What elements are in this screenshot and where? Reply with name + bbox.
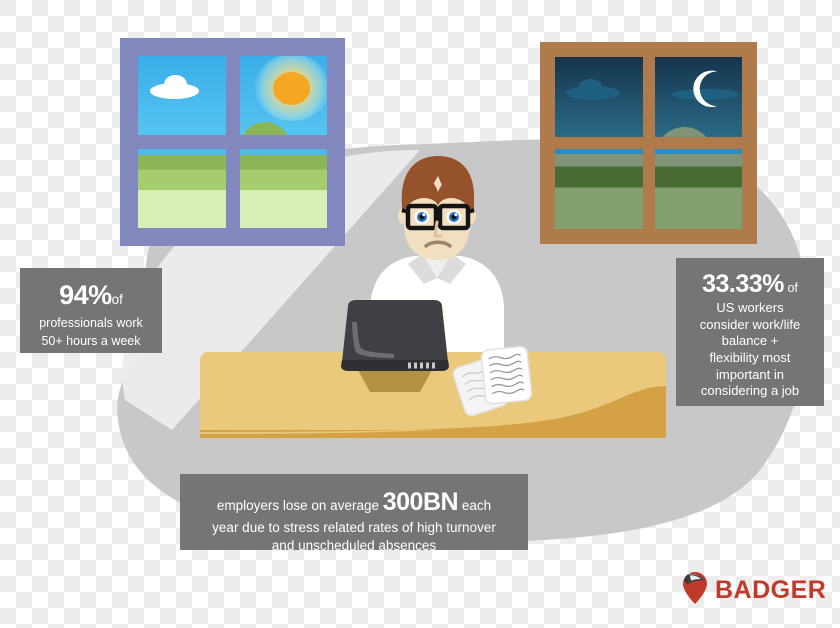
stat-bottom-value: 300BN xyxy=(383,488,458,516)
map-pin-badger-icon xyxy=(682,571,708,610)
pane-sky-cloud xyxy=(138,56,226,135)
stat-left-value: 94% xyxy=(59,280,112,310)
pane-nightsky-moon xyxy=(655,57,743,137)
stat-right-value: 33.33% xyxy=(702,270,784,298)
daytime-window xyxy=(120,38,345,246)
badger-logo[interactable]: BADGER xyxy=(682,571,826,610)
stat-right-line-3: balance + xyxy=(682,333,818,350)
stat-right-line-2: consider work/life xyxy=(682,317,818,334)
cloud-icon xyxy=(566,86,620,100)
infographic-canvas: 94%of professionals work 50+ hours a wee… xyxy=(0,0,840,628)
hill-shape xyxy=(240,122,296,135)
stacked-papers xyxy=(452,344,548,416)
stat-right-line-1: US workers xyxy=(682,300,818,317)
cloud-icon xyxy=(150,83,199,99)
stat-left-of: of xyxy=(112,292,123,307)
stat-right-of: of xyxy=(787,281,797,295)
pane-sky-sun xyxy=(240,56,328,135)
stat-right-headline: 33.33% of xyxy=(682,268,818,300)
pane-darkgrass-left xyxy=(555,149,643,229)
stat-bottom-line-2: and unscheduled absences xyxy=(190,537,518,554)
pane-darkgrass-right xyxy=(655,149,743,229)
sun-icon xyxy=(273,72,310,105)
window-panes xyxy=(138,56,327,228)
stat-left-line-2: 50+ hours a week xyxy=(26,333,156,349)
logo-text: BADGER xyxy=(715,576,826,605)
hill-shape xyxy=(655,127,718,137)
stat-bottom-post: each xyxy=(462,498,491,513)
pane-grass-left xyxy=(138,149,226,228)
stat-right-line-6: considering a job xyxy=(682,383,818,400)
stat-left-line-1: professionals work xyxy=(26,315,156,331)
stat-right-line-4: flexibility most xyxy=(682,350,818,367)
laptop[interactable] xyxy=(336,300,454,392)
pane-nightsky-cloud xyxy=(555,57,643,137)
stat-right-line-5: important in xyxy=(682,367,818,384)
stat-bottom-headline: employers lose on average 300BN each xyxy=(190,486,518,518)
stat-bottom-pre: employers lose on average xyxy=(217,498,379,513)
stat-box-bottom: employers lose on average 300BN each yea… xyxy=(180,474,528,550)
nighttime-window xyxy=(540,42,757,244)
stat-left-headline: 94%of xyxy=(26,278,156,313)
stat-bottom-line-1: year due to stress related rates of high… xyxy=(190,519,518,536)
pane-grass-right xyxy=(240,149,328,228)
stat-box-right: 33.33% of US workers consider work/life … xyxy=(676,258,824,406)
stat-box-left: 94%of professionals work 50+ hours a wee… xyxy=(20,268,162,353)
crescent-moon-icon xyxy=(690,68,727,110)
window-panes xyxy=(555,57,742,229)
